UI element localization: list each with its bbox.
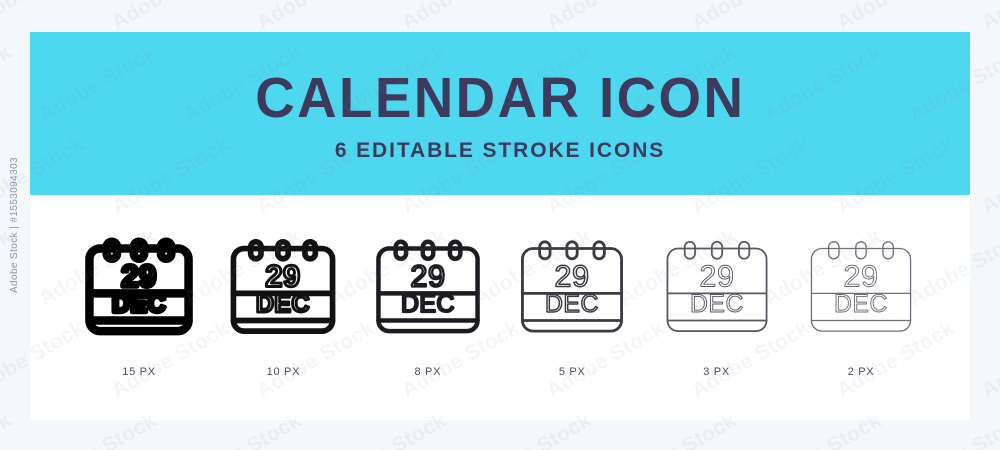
calendar-icon-3px[interactable]: 29DEC3 PX: [654, 232, 780, 378]
calendar-icon-2px[interactable]: 29DEC2 PX: [798, 232, 924, 378]
calendar-icon-8px[interactable]: 29DEC8 PX: [365, 232, 491, 378]
stock-credit-text: Adobe Stock | #1553094303: [9, 157, 20, 293]
calendar-icon-8px-art: 29DEC: [369, 232, 487, 350]
calendar-month-label: DEC: [690, 291, 744, 318]
stock-credit-vertical: Adobe Stock | #1553094303: [2, 0, 26, 450]
watermark-text: Adobe Stock: [978, 0, 1000, 35]
calendar-day-number: 29: [410, 259, 445, 293]
calendar-icon-5px[interactable]: 29DEC5 PX: [509, 232, 635, 378]
header-banner: CALENDAR ICON 6 EDITABLE STROKE ICONS: [30, 32, 970, 195]
calendar-month-label: DEC: [401, 291, 455, 318]
watermark-text: Adobe Stock: [978, 317, 1000, 404]
calendar-day-number: 29: [121, 259, 156, 293]
calendar-icon-10px-art: 29DEC: [224, 232, 342, 350]
icon-size-label: 2 PX: [848, 366, 875, 378]
calendar-icon-5px-art: 29DEC: [513, 232, 631, 350]
watermark-text: Adobe Stock: [833, 0, 959, 35]
calendar-month-label: DEC: [256, 291, 310, 318]
calendar-icon-15px-art: 29DEC: [80, 232, 198, 350]
page-title: CALENDAR ICON: [255, 70, 745, 127]
icon-size-label: 10 PX: [267, 366, 300, 378]
calendar-month-label: DEC: [112, 291, 166, 318]
calendar-icon-3px-art: 29DEC: [658, 232, 776, 350]
calendar-day-number: 29: [699, 259, 734, 293]
calendar-icon-10px[interactable]: 29DEC10 PX: [220, 232, 346, 378]
icon-size-label: 8 PX: [414, 366, 441, 378]
calendar-icon-2px-art: 29DEC: [802, 232, 920, 350]
icon-size-label: 5 PX: [559, 366, 586, 378]
watermark-text: Adobe Stock: [398, 0, 524, 35]
watermark-text: Adobe Stock: [688, 0, 814, 35]
icon-showcase-row: 29DEC15 PX29DEC10 PX29DEC8 PX29DEC5 PX29…: [30, 195, 970, 378]
watermark-text: Adobe Stock: [253, 0, 379, 35]
icon-size-label: 3 PX: [703, 366, 730, 378]
watermark-text: Adobe Stock: [978, 133, 1000, 220]
poster-card: CALENDAR ICON 6 EDITABLE STROKE ICONS 29…: [30, 32, 970, 420]
calendar-month-label: DEC: [834, 291, 888, 318]
calendar-month-label: DEC: [545, 291, 599, 318]
calendar-icon-15px[interactable]: 29DEC15 PX: [76, 232, 202, 378]
icon-size-label: 15 PX: [122, 366, 155, 378]
page-subtitle: 6 EDITABLE STROKE ICONS: [335, 140, 665, 161]
watermark-text: Adobe Stock: [543, 0, 669, 35]
calendar-day-number: 29: [555, 259, 590, 293]
calendar-day-number: 29: [843, 259, 878, 293]
calendar-day-number: 29: [266, 259, 301, 293]
watermark-text: Adobe Stock: [108, 0, 234, 35]
